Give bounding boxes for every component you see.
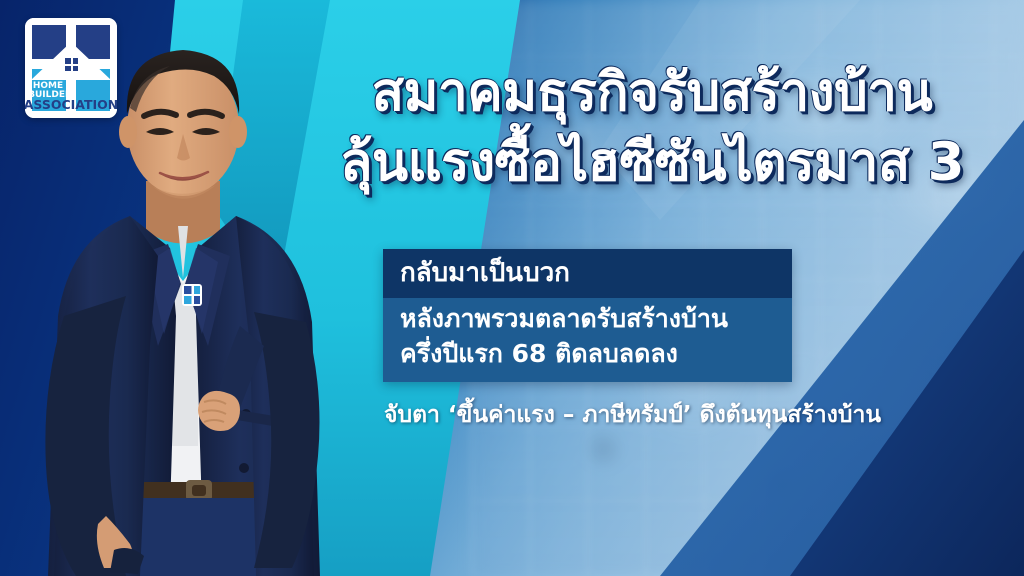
caption-text: จับตา ‘ขึ้นค่าแรง – ภาษีทรัมป์’ ดึงต้นทุ… [384, 400, 881, 430]
subtitle-body-line-2: ครึ่งปีแรก 68 ติดลบลดลง [400, 336, 775, 371]
subtitle-body-line-1: หลังภาพรวมตลาดรับสร้างบ้าน [400, 301, 775, 336]
headline-line-1: สมาคมธุรกิจรับสร้างบ้าน [296, 58, 1008, 128]
home-builder-association-logo[interactable]: HOME BUILDER ASSOCIATION [25, 18, 117, 118]
logo-line-association: ASSOCIATION [25, 97, 117, 112]
subtitle-card-header: กลับมาเป็นบวก [383, 249, 792, 298]
headline-line-2: ลุ้นแรงซื้อไฮซีซันไตรมาส 3 [296, 128, 1008, 198]
subtitle-card-body: หลังภาพรวมตลาดรับสร้างบ้าน ครึ่งปีแรก 68… [383, 298, 792, 382]
news-banner: HOME BUILDER ASSOCIATION สมาคมธุรกิจรับส… [0, 0, 1024, 576]
subtitle-card: กลับมาเป็นบวก หลังภาพรวมตลาดรับสร้างบ้าน… [383, 249, 792, 382]
subtitle-heading: กลับมาเป็นบวก [400, 257, 775, 289]
headline: สมาคมธุรกิจรับสร้างบ้าน ลุ้นแรงซื้อไฮซีซ… [296, 58, 1008, 198]
